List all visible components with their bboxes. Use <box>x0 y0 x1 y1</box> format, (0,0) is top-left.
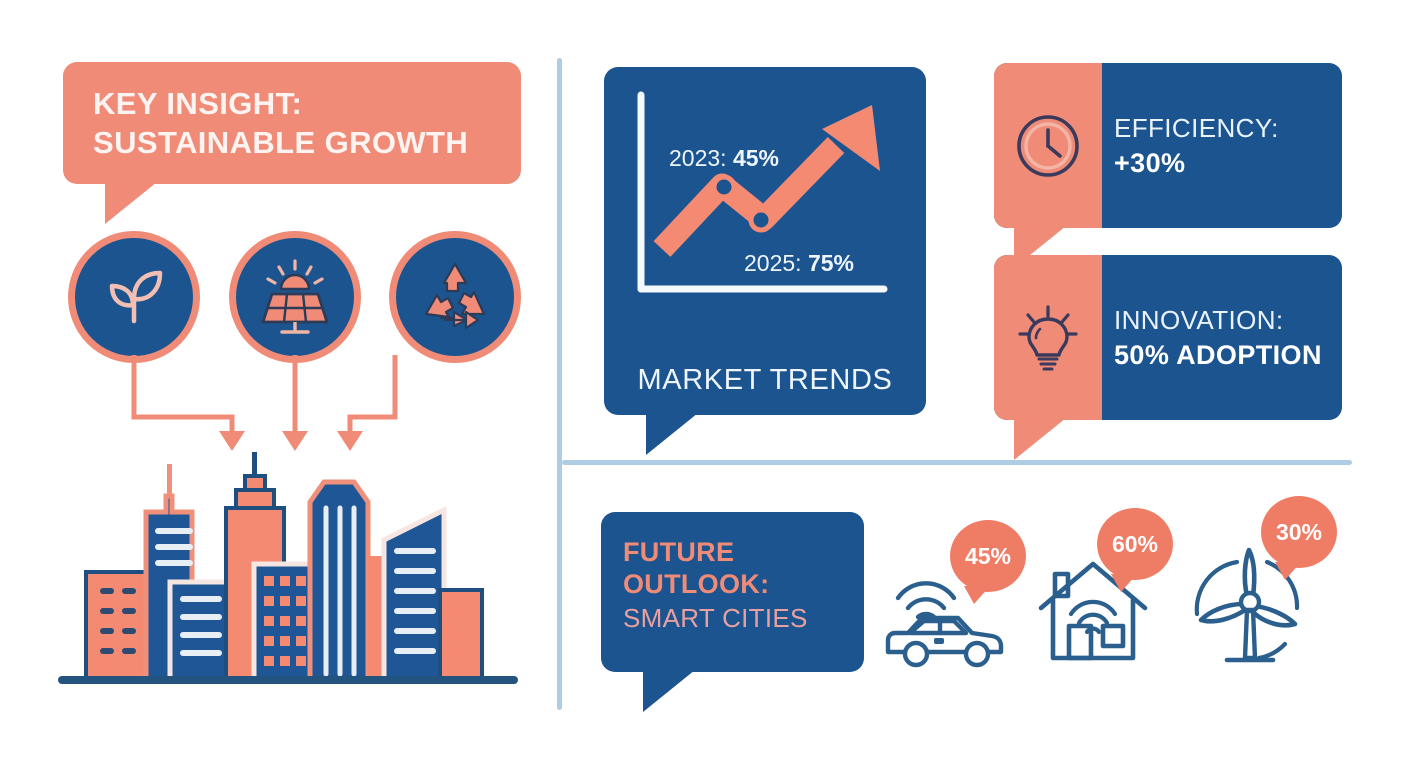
future-outlook-line3: SMART CITIES <box>601 601 864 634</box>
banner-tail <box>105 182 157 224</box>
innovation-label: INNOVATION: <box>1114 305 1322 336</box>
chart-label-2025-year: 2025: <box>744 250 808 276</box>
chart-label-2025-value: 75% <box>808 250 854 276</box>
chart-label-2023-value: 45% <box>733 145 779 171</box>
car-percent-badge: 45% <box>950 520 1026 592</box>
chart-label-2025: 2025: 75% <box>744 250 854 277</box>
recycle-icon <box>416 258 494 336</box>
key-insight-banner: KEY INSIGHT: SUSTAINABLE GROWTH <box>63 62 521 184</box>
efficiency-value: +30% <box>1114 148 1279 179</box>
chart-label-2023-year: 2023: <box>669 145 733 171</box>
wind-percent-badge: 30% <box>1261 496 1337 568</box>
market-trends-panel: 2023: 45% 2025: 75% MARKET TRENDS <box>604 67 926 415</box>
smart-city-item-home[interactable]: 60% <box>1035 552 1155 675</box>
key-insight-line1: KEY INSIGHT: <box>93 84 521 123</box>
key-insight-text: KEY INSIGHT: SUSTAINABLE GROWTH <box>63 62 521 162</box>
future-outlook-line1: FUTURE <box>601 512 864 569</box>
home-percent-badge: 60% <box>1097 508 1173 580</box>
future-outlook-panel: FUTURE OUTLOOK: SMART CITIES <box>601 512 864 672</box>
market-trends-title: MARKET TRENDS <box>604 364 926 397</box>
efficiency-icon-pane <box>994 63 1102 228</box>
pillar-circle-recycle[interactable] <box>389 231 521 363</box>
infographic-canvas: KEY INSIGHT: SUSTAINABLE GROWTH <box>0 0 1408 768</box>
smart-city-item-wind[interactable]: 30% <box>1185 540 1315 675</box>
future-panel-tail <box>643 670 695 712</box>
chart-label-2023: 2023: 45% <box>669 145 779 172</box>
smart-city-item-car[interactable]: 45% <box>880 560 1010 675</box>
stat-card-innovation[interactable]: INNOVATION: 50% ADOPTION <box>994 255 1342 420</box>
city-skyline <box>58 452 518 692</box>
pillar-circle-leaf[interactable] <box>68 231 200 363</box>
pillar-connectors <box>60 355 530 465</box>
future-outlook-line2: OUTLOOK: <box>601 569 864 601</box>
horizontal-divider <box>562 460 1352 465</box>
stat-card-efficiency[interactable]: EFFICIENCY: +30% <box>994 63 1342 228</box>
market-trend-chart <box>604 67 926 367</box>
innovation-text: INNOVATION: 50% ADOPTION <box>1114 255 1322 420</box>
efficiency-label: EFFICIENCY: <box>1114 113 1279 144</box>
clock-icon <box>1015 113 1081 179</box>
key-insight-line2: SUSTAINABLE GROWTH <box>93 123 521 162</box>
market-panel-tail <box>646 413 698 455</box>
lightbulb-icon <box>1014 303 1082 373</box>
solar-panel-icon <box>254 256 336 338</box>
innovation-card-tail <box>1014 418 1066 460</box>
innovation-icon-pane <box>994 255 1102 420</box>
pillar-circle-solar[interactable] <box>229 231 361 363</box>
innovation-value: 50% ADOPTION <box>1114 340 1322 371</box>
leaf-icon <box>96 259 172 335</box>
efficiency-text: EFFICIENCY: +30% <box>1114 63 1279 228</box>
vertical-divider <box>557 58 562 710</box>
